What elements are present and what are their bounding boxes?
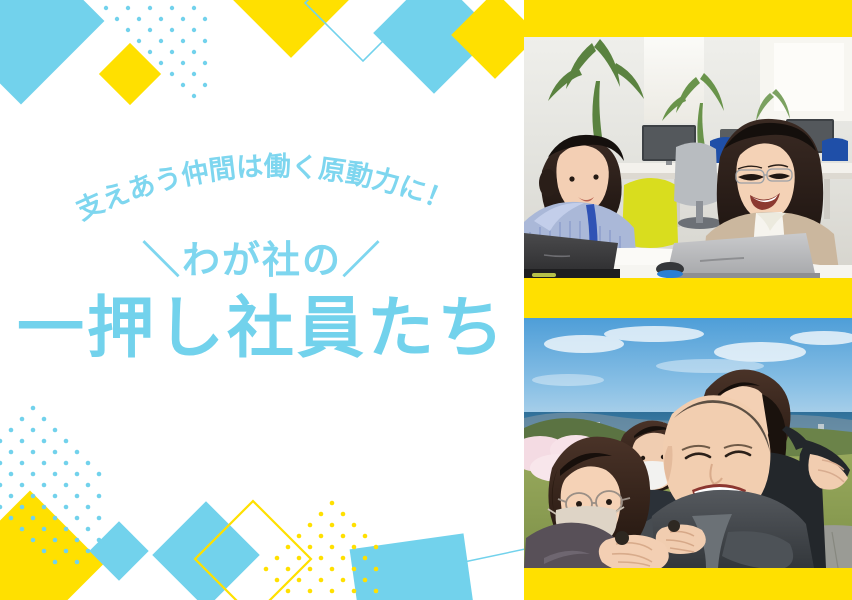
poster-canvas: 支えあう仲間は働く原動力に！ ＼わが社の／ 一押し社員たち bbox=[0, 0, 852, 600]
subtitle-line: ＼わが社の／ bbox=[142, 240, 382, 282]
arc-tagline-text: 支えあう仲間は働く原動力に！ bbox=[72, 151, 457, 226]
page-title: 一押し社員たち bbox=[17, 292, 507, 366]
photo-outdoor bbox=[524, 318, 852, 568]
cyan-diamond-tiny-bottom bbox=[89, 521, 148, 580]
photo-column-right bbox=[524, 0, 852, 600]
arc-tagline-textpath: 支えあう仲間は働く原動力に！ bbox=[72, 151, 457, 226]
photo-outdoor-canvas bbox=[524, 318, 852, 568]
pen bbox=[532, 273, 556, 277]
cyan-diamond-bottom bbox=[152, 501, 259, 600]
cyan-square-bottomright bbox=[350, 533, 478, 600]
headline-block: 支えあう仲間は働く原動力に！ ＼わが社の／ 一押し社員たち bbox=[0, 150, 524, 400]
cyan-line-bottomright bbox=[464, 548, 524, 562]
photo-office bbox=[524, 37, 852, 278]
photo-office-canvas bbox=[524, 37, 852, 278]
cyan-diamond-large-topleft bbox=[0, 0, 104, 104]
yellow-diamond-large-top bbox=[223, 0, 359, 58]
arc-tagline: 支えあう仲間は働く原動力に！ bbox=[27, 150, 497, 238]
